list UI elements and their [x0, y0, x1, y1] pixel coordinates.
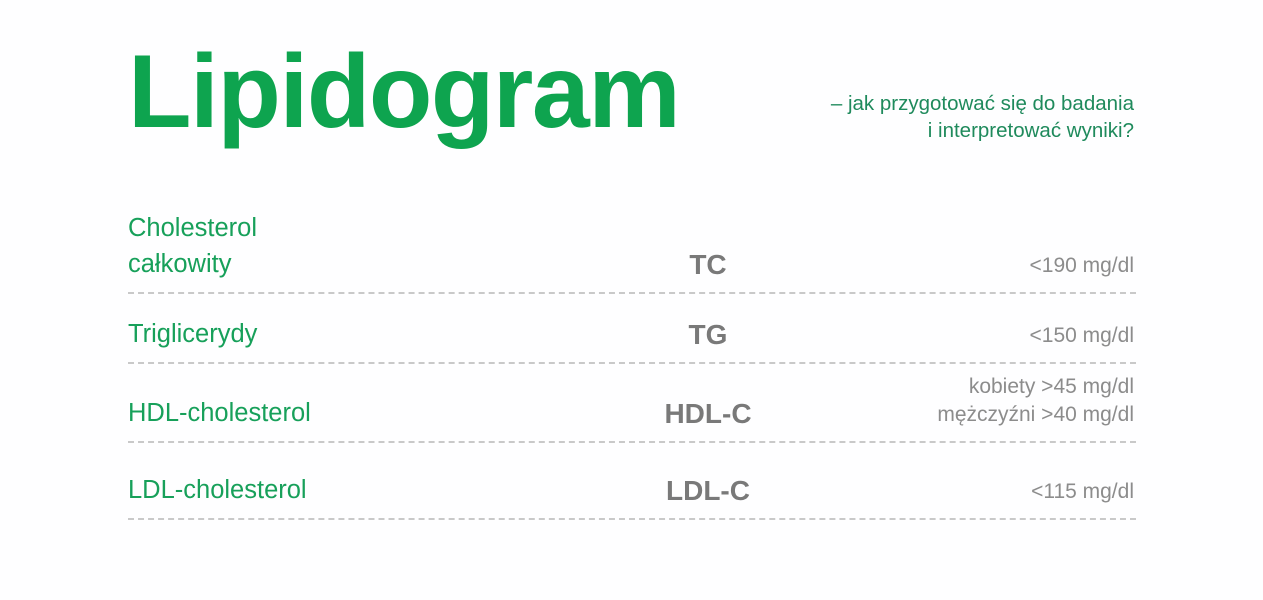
- header: Lipidogram – jak przygotować się do bada…: [0, 0, 1263, 190]
- reference-value: kobiety >45 mg/dl mężczyźni >40 mg/dl: [818, 373, 1136, 441]
- parameter-name-line-1: HDL-cholesterol: [128, 395, 598, 431]
- table-row: Triglicerydy TG <150 mg/dl: [128, 294, 1136, 364]
- reference-value-line-1: <190 mg/dl: [818, 252, 1134, 280]
- reference-value: <150 mg/dl: [818, 322, 1136, 362]
- parameter-name: Triglicerydy: [128, 316, 598, 362]
- parameter-abbreviation: TC: [598, 248, 818, 292]
- parameter-name: HDL-cholesterol: [128, 395, 598, 441]
- table-row: HDL-cholesterol HDL-C kobiety >45 mg/dl …: [128, 364, 1136, 443]
- subtitle-line-2: i interpretować wyniki?: [772, 117, 1134, 144]
- reference-value: <190 mg/dl: [818, 252, 1136, 292]
- page-title: Lipidogram: [128, 36, 679, 148]
- lipidogram-infographic: Lipidogram – jak przygotować się do bada…: [0, 0, 1263, 600]
- parameter-name-line-1: LDL-cholesterol: [128, 472, 598, 508]
- parameter-abbreviation: TG: [598, 318, 818, 362]
- parameter-name-line-1: Triglicerydy: [128, 316, 598, 352]
- parameter-name-line-1: Cholesterol: [128, 210, 598, 246]
- parameter-name: LDL-cholesterol: [128, 472, 598, 518]
- table-row: Cholesterol całkowity TC <190 mg/dl: [128, 204, 1136, 294]
- reference-value-line-1: <150 mg/dl: [818, 322, 1134, 350]
- subtitle-line-1: – jak przygotować się do badania: [772, 90, 1134, 117]
- table-row: LDL-cholesterol LDL-C <115 mg/dl: [128, 443, 1136, 520]
- reference-value-line-1: <115 mg/dl: [818, 478, 1134, 506]
- reference-value-line-1: kobiety >45 mg/dl: [818, 373, 1134, 401]
- reference-value: <115 mg/dl: [818, 478, 1136, 518]
- parameter-abbreviation: LDL-C: [598, 474, 818, 518]
- lipid-panel-table: Cholesterol całkowity TC <190 mg/dl Trig…: [128, 204, 1136, 520]
- parameter-abbreviation: HDL-C: [598, 397, 818, 441]
- parameter-name: Cholesterol całkowity: [128, 210, 598, 292]
- parameter-name-line-2: całkowity: [128, 246, 598, 282]
- reference-value-line-2: mężczyźni >40 mg/dl: [818, 401, 1134, 429]
- page-subtitle: – jak przygotować się do badania i inter…: [772, 90, 1134, 145]
